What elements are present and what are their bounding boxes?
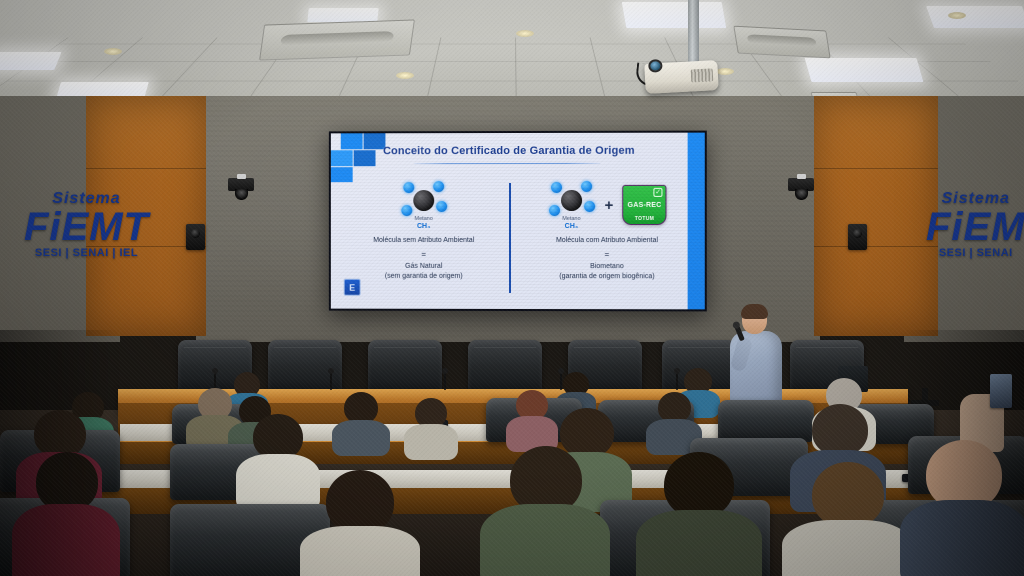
attendee-head (326, 470, 394, 534)
caption-line-3: (sem garantia de origem) (373, 272, 474, 283)
caption-line-1: Molécula sem Atributo Ambiental (373, 236, 474, 247)
caption-line-3: (garantia de origem biogênica) (556, 272, 658, 283)
recessed-downlight (104, 48, 122, 55)
attendee-body (300, 526, 420, 576)
attendee-head (34, 410, 86, 458)
wall-wood-panel-right (814, 96, 938, 336)
projector-vent (691, 68, 714, 82)
table-microphone (330, 372, 332, 390)
checkmark-icon: ✓ (654, 188, 663, 197)
projection-screen: Conceito do Certificado de Garantia de O… (329, 131, 707, 312)
presentation-slide: Conceito do Certificado de Garantia de O… (331, 133, 705, 310)
attendee-head (36, 452, 98, 512)
methane-molecule-icon (400, 180, 448, 222)
air-conditioning-vent (733, 26, 830, 59)
recessed-downlight (948, 12, 966, 19)
wall-logo-fiemt-left: Sistema FiEMT SESI | SENAI | IEL (24, 190, 149, 259)
attendee-body (782, 520, 912, 576)
gas-rec-certificate-badge: ✓ GAS-REC TOTUM (622, 185, 666, 225)
caption-line-2: Gás Natural (373, 261, 474, 272)
attendee-body (332, 420, 390, 456)
caption-equals: = (556, 249, 658, 261)
slide-caption-left: Molécula sem Atributo Ambiental = Gás Na… (373, 236, 474, 282)
list-item (12, 452, 120, 576)
presenter-hair (741, 304, 768, 319)
molecule-group-right: Metano CH₄ + ✓ GAS-REC TOTUM (547, 179, 666, 231)
head-table-chair (468, 340, 542, 394)
list-item (636, 452, 762, 576)
recessed-downlight (716, 68, 734, 75)
wall-speaker-icon (186, 224, 205, 250)
projector-lens-icon (648, 59, 663, 73)
list-item (300, 470, 420, 576)
molecule-group-left: Metano CH₄ (400, 179, 448, 231)
caption-line-2: Biometano (556, 262, 658, 273)
attendee-body (404, 424, 458, 460)
ceiling-light-panel (307, 8, 378, 22)
slide-column-left: Metano CH₄ Molécula sem Atributo Ambient… (335, 179, 514, 282)
molecule-formula: CH₄ (547, 223, 595, 230)
wall-logo-brand-text: FiEM (926, 208, 1024, 246)
table-microphone (444, 372, 446, 390)
attendee-body (636, 510, 762, 576)
attendee-body (480, 504, 610, 576)
security-camera-icon (228, 178, 254, 191)
slide-title-underline (414, 163, 600, 164)
badge-title: GAS-REC (628, 201, 662, 208)
list-item (332, 392, 390, 454)
list-item (782, 462, 912, 576)
slide-title: Conceito do Certificado de Garantia de O… (331, 145, 688, 158)
list-item (900, 440, 1024, 576)
list-item (480, 446, 610, 576)
air-conditioning-vent (259, 19, 415, 60)
molecule-formula: CH₄ (400, 223, 448, 230)
caption-line-1: Molécula com Atributo Ambiental (556, 236, 658, 247)
plus-sign: + (605, 196, 614, 213)
recessed-downlight (396, 72, 414, 79)
auditorium-scene: Sistema FiEMT SESI | SENAI | IEL Sistema… (0, 0, 1024, 576)
security-camera-icon (788, 178, 814, 191)
ceiling-light-panel (805, 58, 924, 82)
attendee-body (900, 500, 1024, 576)
attendee-head (812, 462, 884, 528)
wall-logo-subbrands-text: SESI | SENAI | IEL (24, 247, 149, 259)
wall-logo-fiemt-right: Sistema FiEM SESI | SENAI (926, 190, 1024, 259)
wall-logo-brand-text: FiEMT (24, 208, 149, 246)
list-item (404, 398, 458, 456)
ceiling-projector (644, 60, 718, 94)
slide-column-right: Metano CH₄ + ✓ GAS-REC TOTUM Molécula co… (517, 179, 697, 283)
wall-logo-subbrands-text: SESI | SENAI (926, 247, 1024, 259)
caption-equals: = (373, 248, 474, 260)
slide-corner-logo: E (344, 279, 361, 296)
recessed-downlight (516, 30, 534, 37)
ceiling-light-panel (622, 2, 727, 28)
ceiling-light-panel (926, 6, 1024, 28)
attendee-body (12, 504, 120, 576)
slide-caption-right: Molécula com Atributo Ambiental = Biomet… (556, 236, 658, 283)
wall-speaker-icon (848, 224, 867, 250)
badge-subtitle: TOTUM (623, 216, 665, 222)
attendee-head (812, 404, 868, 456)
methane-molecule-icon (547, 179, 595, 221)
smartphone-icon (990, 374, 1012, 408)
attendee-head (664, 452, 734, 518)
ceiling-light-panel (0, 52, 62, 70)
head-table-chair (368, 340, 442, 394)
